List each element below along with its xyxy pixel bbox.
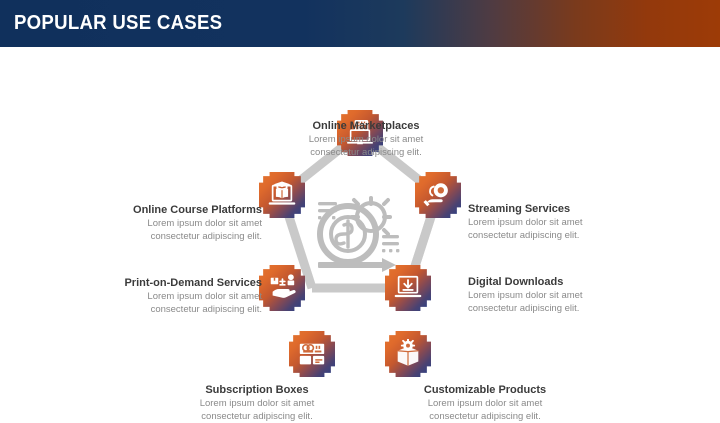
slide: POPULAR USE CASES <box>0 0 720 405</box>
page-title: POPULAR USE CASES <box>14 12 222 34</box>
label-description-line1: Lorem ipsum dolor sit amet <box>62 218 262 231</box>
label-description-line1: Lorem ipsum dolor sit amet <box>468 290 668 303</box>
label-title: Streaming Services <box>468 202 668 216</box>
label-description-line1: Lorem ipsum dolor sit amet <box>468 217 668 230</box>
label-online-course-platforms: Online Course Platforms Lorem ipsum dolo… <box>62 203 262 243</box>
label-customizable-products: Customizable Products Lorem ipsum dolor … <box>390 383 580 423</box>
label-description-line1: Lorem ipsum dolor sit amet <box>62 291 262 304</box>
label-description-line2: consectetur adipiscing elit. <box>62 231 262 244</box>
label-title: Online Course Platforms <box>62 203 262 217</box>
label-print-on-demand-services: Print-on-Demand Services Lorem ipsum dol… <box>62 276 262 316</box>
laptop-download-icon <box>393 273 423 303</box>
cycle-diagram: Online Marketplaces Lorem ipsum dolor si… <box>0 47 720 405</box>
label-title: Online Marketplaces <box>246 119 486 133</box>
node-streaming-services[interactable] <box>415 172 461 218</box>
label-description-line2: consectetur adipiscing elit. <box>246 147 486 160</box>
node-subscription-boxes[interactable] <box>289 331 335 377</box>
label-subscription-boxes: Subscription Boxes Lorem ipsum dolor sit… <box>162 383 352 423</box>
label-description-line2: consectetur adipiscing elit. <box>468 230 668 243</box>
node-print-on-demand-services[interactable] <box>259 265 305 311</box>
label-streaming-services: Streaming Services Lorem ipsum dolor sit… <box>468 202 668 242</box>
label-title: Digital Downloads <box>468 275 668 289</box>
gift-box-ribbon-icon <box>297 339 327 369</box>
box-gear-icon <box>393 339 423 369</box>
slide-header: POPULAR USE CASES <box>0 0 720 47</box>
label-title: Subscription Boxes <box>162 383 352 397</box>
laptop-book-graduation-icon <box>267 180 297 210</box>
label-title: Customizable Products <box>390 383 580 397</box>
label-online-marketplaces: Online Marketplaces Lorem ipsum dolor si… <box>246 119 486 159</box>
node-digital-downloads[interactable] <box>385 265 431 311</box>
hand-boxes-print-icon <box>267 273 297 303</box>
label-digital-downloads: Digital Downloads Lorem ipsum dolor sit … <box>468 275 668 315</box>
label-description-line1: Lorem ipsum dolor sit amet <box>390 398 580 411</box>
node-customizable-products[interactable] <box>385 331 431 377</box>
node-online-course-platforms[interactable] <box>259 172 305 218</box>
label-description-line2: consectetur adipiscing elit. <box>390 411 580 423</box>
label-description-line2: consectetur adipiscing elit. <box>468 303 668 316</box>
label-description-line1: Lorem ipsum dolor sit amet <box>162 398 352 411</box>
money-gear-arrow-icon <box>318 198 399 272</box>
label-description-line1: Lorem ipsum dolor sit amet <box>246 134 486 147</box>
label-description-line2: consectetur adipiscing elit. <box>162 411 352 423</box>
label-title: Print-on-Demand Services <box>62 276 262 290</box>
hand-play-media-icon <box>423 180 453 210</box>
label-description-line2: consectetur adipiscing elit. <box>62 304 262 317</box>
